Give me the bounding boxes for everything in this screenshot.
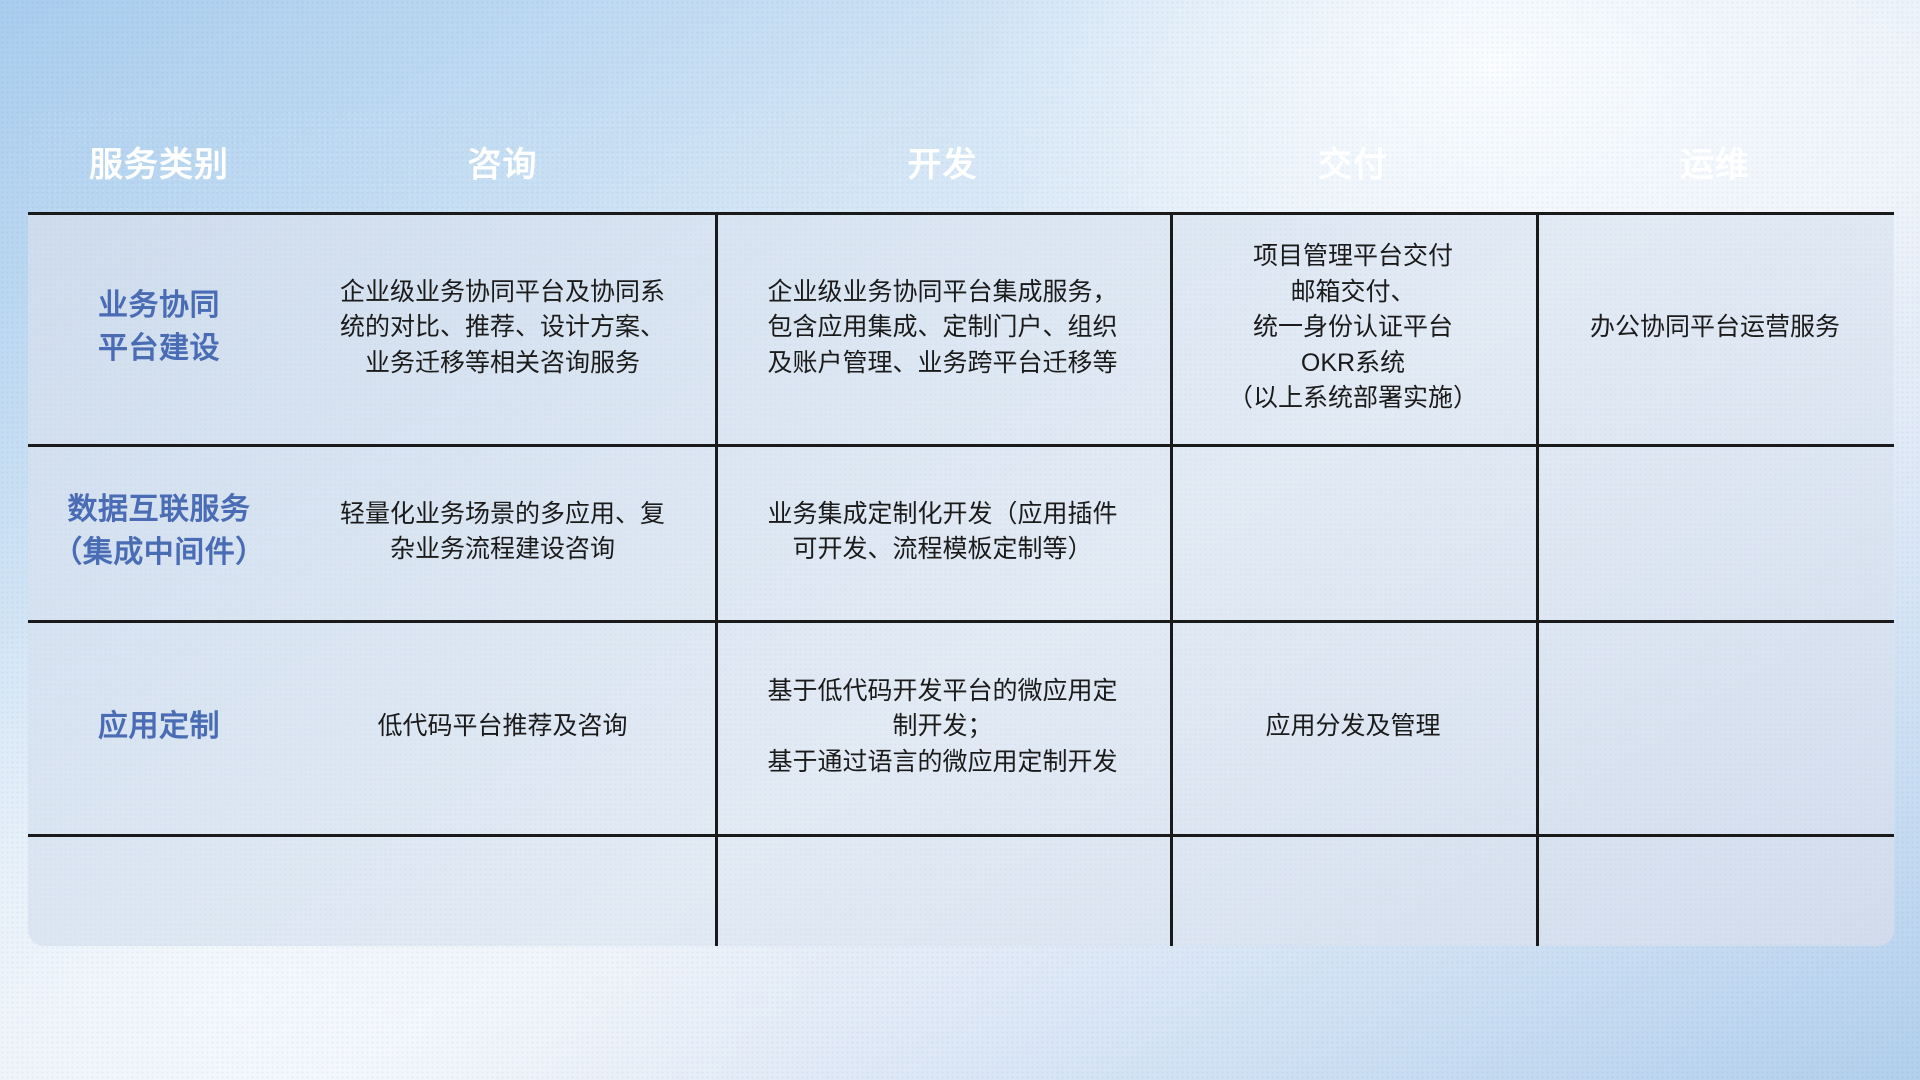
column-header-development: 开发 (715, 137, 1170, 186)
column-header-delivery: 交付 (1170, 137, 1536, 186)
cell-text: 应用分发及管理 (1265, 709, 1440, 745)
row-category-label: 数据互联服务（集成中间件） (28, 444, 290, 620)
table-body: 业务协同平台建设 企业级业务协同平台及协同系统的对比、推荐、设计方案、业务迁移等… (28, 212, 1894, 946)
column-divider-3 (1536, 212, 1539, 834)
category-text: 应用定制 (98, 706, 220, 749)
cell-text: 办公协同平台运营服务 (1590, 310, 1840, 346)
row-category-label: 应用定制 (28, 620, 290, 834)
cell-development: 企业级业务协同平台集成服务，包含应用集成、定制门户、组织及账户管理、业务跨平台迁… (715, 212, 1170, 444)
cell-operations (1536, 620, 1894, 834)
table-row: 业务协同平台建设 企业级业务协同平台及协同系统的对比、推荐、设计方案、业务迁移等… (28, 212, 1894, 444)
cell-operations: 办公协同平台运营服务 (1536, 212, 1894, 444)
cell-text: 基于低代码开发平台的微应用定制开发；基于通过语言的微应用定制开发 (767, 674, 1117, 781)
column-header-operations: 运维 (1536, 137, 1894, 186)
column-divider-2 (1170, 212, 1173, 834)
cell-text: 企业级业务协同平台集成服务，包含应用集成、定制门户、组织及账户管理、业务跨平台迁… (767, 275, 1117, 382)
cell-operations (1536, 444, 1894, 620)
column-header-category: 服务类别 (28, 137, 290, 186)
cell-text: 项目管理平台交付邮箱交付、统一身份认证平台OKR系统（以上系统部署实施） (1228, 239, 1478, 417)
cell-consulting: 低代码平台推荐及咨询 (290, 620, 715, 834)
row-divider-1 (28, 444, 1894, 447)
cell-text: 企业级业务协同平台及协同系统的对比、推荐、设计方案、业务迁移等相关咨询服务 (340, 275, 665, 382)
category-text: 数据互联服务（集成中间件） (52, 489, 266, 574)
column-divider-2-lower (1170, 834, 1173, 946)
column-header-consulting: 咨询 (290, 137, 715, 186)
row-divider-2 (28, 620, 1894, 623)
column-divider-3-lower (1536, 834, 1539, 946)
cell-development: 基于低代码开发平台的微应用定制开发；基于通过语言的微应用定制开发 (715, 620, 1170, 834)
cell-development: 业务集成定制化开发（应用插件可开发、流程模板定制等） (715, 444, 1170, 620)
cell-consulting: 轻量化业务场景的多应用、复杂业务流程建设咨询 (290, 444, 715, 620)
row-divider-top (28, 212, 1894, 215)
row-category-label: 业务协同平台建设 (28, 212, 290, 444)
cell-text: 业务集成定制化开发（应用插件可开发、流程模板定制等） (767, 497, 1117, 568)
cell-delivery: 项目管理平台交付邮箱交付、统一身份认证平台OKR系统（以上系统部署实施） (1170, 212, 1536, 444)
row-divider-3 (28, 834, 1894, 837)
category-text: 业务协同平台建设 (98, 285, 220, 370)
column-divider-1 (715, 212, 718, 834)
table-row: 数据互联服务（集成中间件） 轻量化业务场景的多应用、复杂业务流程建设咨询 业务集… (28, 444, 1894, 620)
column-divider-1-lower (715, 834, 718, 946)
service-category-table: 服务类别 咨询 开发 交付 运维 业务协同平台建设 企业级业务协同平台及协同系统… (28, 110, 1894, 946)
table-row: 应用定制 低代码平台推荐及咨询 基于低代码开发平台的微应用定制开发；基于通过语言… (28, 620, 1894, 834)
cell-text: 低代码平台推荐及咨询 (377, 709, 627, 745)
cell-consulting: 企业级业务协同平台及协同系统的对比、推荐、设计方案、业务迁移等相关咨询服务 (290, 212, 715, 444)
cell-text: 轻量化业务场景的多应用、复杂业务流程建设咨询 (340, 497, 665, 568)
cell-delivery: 应用分发及管理 (1170, 620, 1536, 834)
cell-delivery (1170, 444, 1536, 620)
table-header-row: 服务类别 咨询 开发 交付 运维 (28, 110, 1894, 212)
